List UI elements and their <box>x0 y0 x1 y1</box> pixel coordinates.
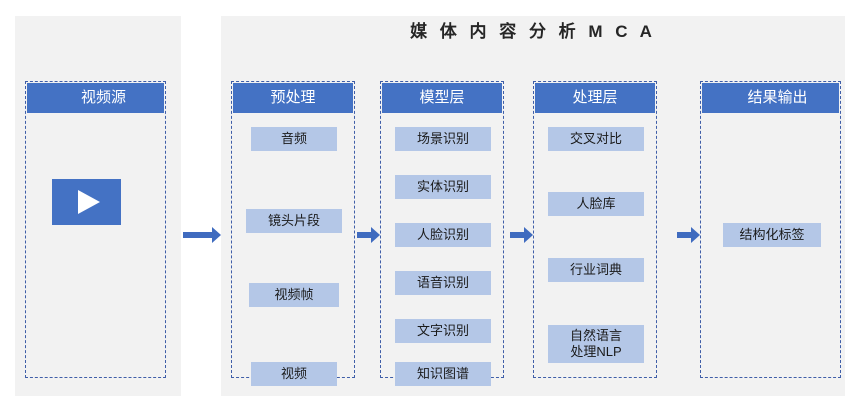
chip-entity-recognition[interactable]: 实体识别 <box>395 175 491 199</box>
column-body-video-source <box>26 113 165 377</box>
chip-face-database[interactable]: 人脸库 <box>548 192 644 216</box>
column-header-preprocessing: 预处理 <box>233 83 353 113</box>
chip-video-frame[interactable]: 视频帧 <box>249 283 339 307</box>
arrow-model-to-processing <box>510 227 533 243</box>
arrow-head-icon <box>212 227 221 243</box>
arrow-preprocessing-to-model <box>357 227 380 243</box>
chip-text-recognition[interactable]: 文字识别 <box>395 319 491 343</box>
arrow-processing-to-output <box>677 227 700 243</box>
column-body-preprocessing: 音频 镜头片段 视频帧 视频 <box>232 113 354 377</box>
arrow-shaft <box>357 232 372 238</box>
column-result-output[interactable]: 结果输出 结构化标签 <box>700 81 841 378</box>
column-processing-layer[interactable]: 处理层 交叉对比 人脸库 行业词典 自然语言 处理NLP <box>533 81 657 378</box>
chip-nlp[interactable]: 自然语言 处理NLP <box>548 325 644 363</box>
column-header-result-output: 结果输出 <box>702 83 839 113</box>
chip-speech-recognition[interactable]: 语音识别 <box>395 271 491 295</box>
arrow-shaft <box>183 232 213 238</box>
column-body-processing-layer: 交叉对比 人脸库 行业词典 自然语言 处理NLP <box>534 113 656 377</box>
arrow-source-to-preprocessing <box>183 227 221 243</box>
column-header-video-source: 视频源 <box>27 83 164 113</box>
column-body-result-output: 结构化标签 <box>701 113 840 377</box>
arrow-head-icon <box>691 227 700 243</box>
arrow-shaft <box>677 232 692 238</box>
arrow-head-icon <box>524 227 533 243</box>
chip-shot-segment[interactable]: 镜头片段 <box>246 209 342 233</box>
column-model-layer[interactable]: 模型层 场景识别 实体识别 人脸识别 语音识别 文字识别 知识图谱 <box>380 81 504 378</box>
column-header-model-layer: 模型层 <box>382 83 502 113</box>
chip-cross-comparison[interactable]: 交叉对比 <box>548 127 644 151</box>
chip-audio[interactable]: 音频 <box>251 127 337 151</box>
play-button-icon[interactable] <box>52 179 121 225</box>
diagram-canvas: 媒 体 内 容 分 析 M C A 视频源 预处理 音频 镜头片段 视频帧 视频… <box>0 0 859 411</box>
column-video-source[interactable]: 视频源 <box>25 81 166 378</box>
chip-industry-lexicon[interactable]: 行业词典 <box>548 258 644 282</box>
chip-face-recognition[interactable]: 人脸识别 <box>395 223 491 247</box>
arrow-shaft <box>510 232 525 238</box>
arrow-head-icon <box>371 227 380 243</box>
column-preprocessing[interactable]: 预处理 音频 镜头片段 视频帧 视频 <box>231 81 355 378</box>
chip-knowledge-graph[interactable]: 知识图谱 <box>395 362 491 386</box>
chip-scene-recognition[interactable]: 场景识别 <box>395 127 491 151</box>
play-triangle-icon <box>78 190 100 214</box>
chip-video[interactable]: 视频 <box>251 362 337 386</box>
chip-structured-tags[interactable]: 结构化标签 <box>723 223 821 247</box>
column-body-model-layer: 场景识别 实体识别 人脸识别 语音识别 文字识别 知识图谱 <box>381 113 503 377</box>
column-header-processing-layer: 处理层 <box>535 83 655 113</box>
diagram-title: 媒 体 内 容 分 析 M C A <box>221 17 845 47</box>
